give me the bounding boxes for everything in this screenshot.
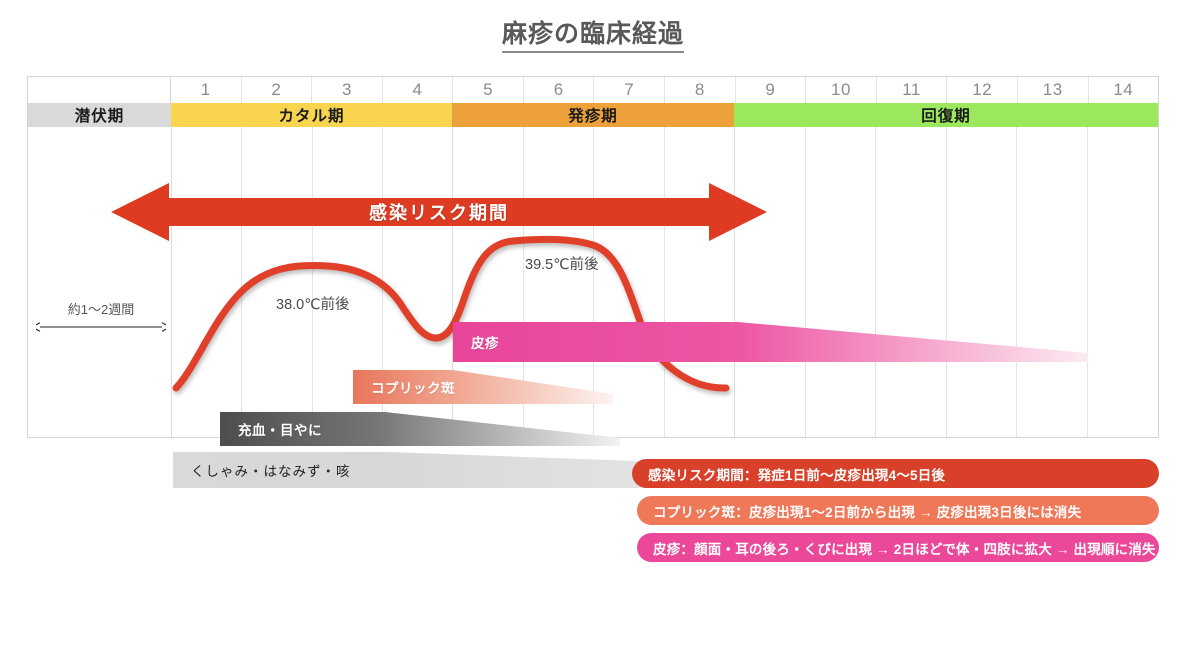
day-tick-2: 2: [242, 77, 313, 103]
phase-recovery: 回復期: [734, 103, 1158, 127]
phase-incubation: 潜伏期: [28, 103, 171, 127]
clinical-course-chart: 1 2 3 4 5 6 7 8 9 10 11 12 13 14 潜伏期 カタル…: [27, 76, 1159, 438]
page-title: 麻疹の臨床経過: [0, 14, 1186, 50]
legend-item-koplik: コプリック斑：皮疹出現1〜2日前から出現 → 皮疹出現3日後には消失: [637, 496, 1159, 525]
symptom-band-eye: 充血・目やに: [220, 412, 620, 446]
day-axis-header: 1 2 3 4 5 6 7 8 9 10 11 12 13 14: [28, 77, 1158, 103]
day-tick-14: 14: [1089, 77, 1159, 103]
day-tick-5: 5: [453, 77, 524, 103]
day-tick-12: 12: [947, 77, 1018, 103]
phase-band-row: 潜伏期 カタル期 発疹期 回復期: [28, 103, 1158, 127]
symptom-band-koplik: コプリック斑: [353, 370, 613, 404]
legend-item-rash: 皮疹：顔面・耳の後ろ・くびに出現 → 2日ほどで体・四肢に拡大 → 出現順に消失: [637, 533, 1159, 562]
temperature-annotation-2: 39.5℃前後: [525, 253, 599, 274]
symptom-band-cough-label: くしゃみ・はなみず・咳: [191, 460, 351, 480]
phase-catarrhal: カタル期: [171, 103, 452, 127]
page-title-text: 麻疹の臨床経過: [502, 20, 684, 53]
day-tick-13: 13: [1018, 77, 1089, 103]
day-tick-4: 4: [383, 77, 454, 103]
day-tick-8: 8: [665, 77, 736, 103]
symptom-band-rash: 皮疹: [453, 322, 1088, 362]
day-tick-1: 1: [171, 77, 242, 103]
symptom-band-eye-label: 充血・目やに: [238, 419, 322, 439]
day-tick-10: 10: [806, 77, 877, 103]
day-tick-3: 3: [312, 77, 383, 103]
day-tick-11: 11: [877, 77, 948, 103]
symptom-band-koplik-label: コプリック斑: [371, 377, 455, 397]
phase-rash: 発疹期: [452, 103, 734, 127]
day-tick-9: 9: [736, 77, 807, 103]
legend-item-infection-risk: 感染リスク期間：発症1日前〜皮疹出現4〜5日後: [632, 459, 1159, 488]
day-axis-spacer: [28, 77, 171, 103]
temperature-annotation-1: 38.0℃前後: [276, 293, 350, 314]
day-tick-6: 6: [524, 77, 595, 103]
plot-area: 約1〜2週間 感染リスク期間: [28, 127, 1158, 438]
symptom-band-rash-shape: [453, 322, 1088, 362]
day-tick-7: 7: [594, 77, 665, 103]
legend: 感染リスク期間：発症1日前〜皮疹出現4〜5日後 コプリック斑：皮疹出現1〜2日前…: [632, 459, 1159, 570]
symptom-band-rash-label: 皮疹: [471, 332, 499, 352]
